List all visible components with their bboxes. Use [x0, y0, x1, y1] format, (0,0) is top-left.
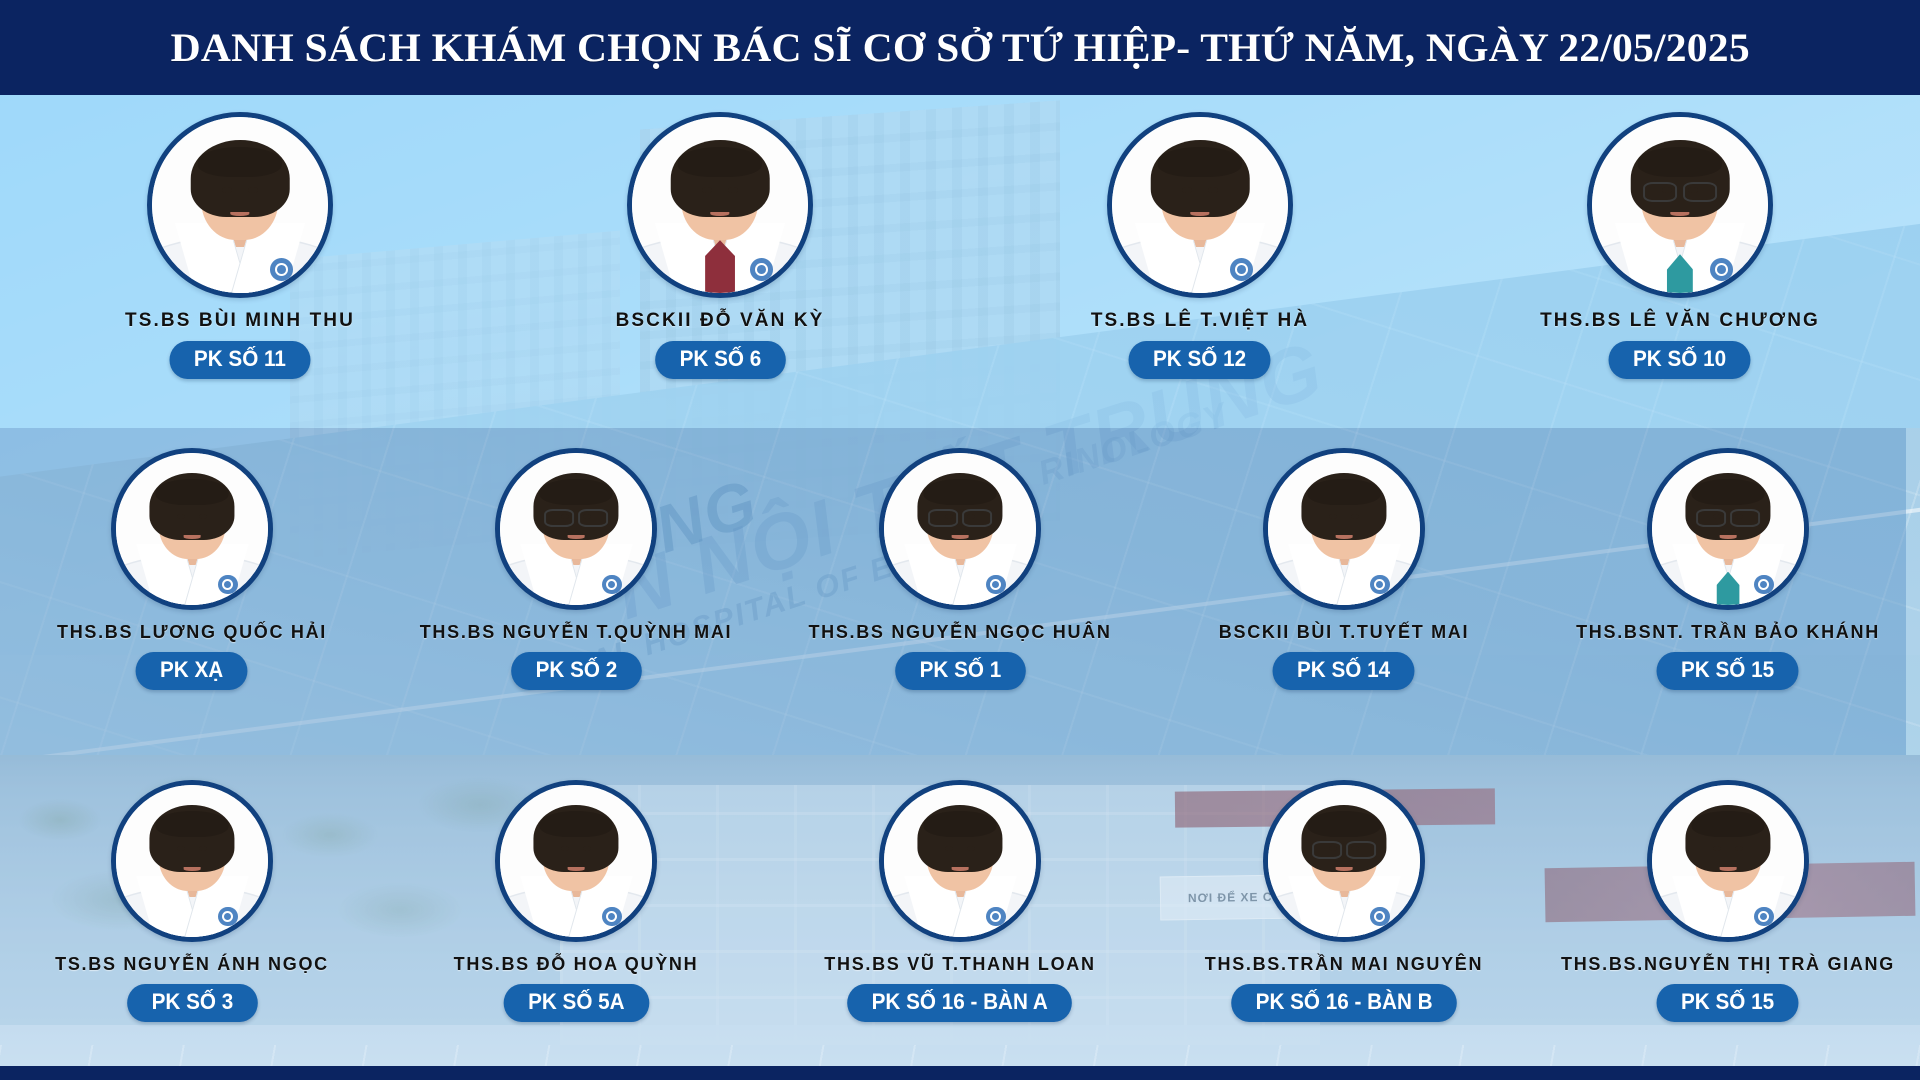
- portrait-eye-right: [728, 187, 738, 193]
- doctor-avatar: [1647, 448, 1809, 610]
- hospital-logo-icon: [602, 575, 622, 595]
- portrait-eye-right: [1735, 846, 1743, 851]
- portrait-eye-right: [1208, 187, 1218, 193]
- hospital-logo-icon: [602, 907, 622, 927]
- doctor-avatar: [879, 780, 1041, 942]
- portrait-mouth: [184, 535, 201, 539]
- doctor-name: THS.BS ĐỖ HOA QUỲNH: [454, 954, 699, 975]
- clinic-badge[interactable]: PK XẠ: [136, 652, 248, 690]
- doctor-name: THS.BS.TRẦN MAI NGUYÊN: [1205, 954, 1483, 975]
- portrait-eye-right: [967, 846, 975, 851]
- doctor-name: TS.BS BÙI MINH THU: [125, 310, 355, 332]
- doctor-card[interactable]: BSCKII BÙI T.TUYẾT MAIPK SỐ 14: [1159, 448, 1529, 690]
- doctor-name: BSCKII BÙI T.TUYẾT MAI: [1219, 622, 1469, 643]
- doctor-card[interactable]: THS.BS.TRẦN MAI NGUYÊNPK SỐ 16 - BÀN B: [1159, 780, 1529, 1022]
- portrait-fringe: [1692, 479, 1765, 505]
- portrait-glasses: [544, 509, 608, 523]
- doctor-name: THS.BSNT. TRẦN BẢO KHÁNH: [1576, 622, 1880, 643]
- doctor-card[interactable]: THS.BS ĐỖ HOA QUỲNHPK SỐ 5A: [391, 780, 761, 1022]
- clinic-badge[interactable]: PK SỐ 16 - BÀN B: [1231, 984, 1457, 1022]
- doctor-avatar: [495, 448, 657, 610]
- doctor-avatar: [879, 448, 1041, 610]
- doctor-card[interactable]: TS.BS LÊ T.VIỆT HÀPK SỐ 12: [1035, 112, 1365, 379]
- doctor-avatar: [495, 780, 657, 942]
- hospital-logo-icon: [1370, 907, 1390, 927]
- portrait-fringe: [1308, 811, 1381, 837]
- portrait-mouth: [568, 867, 585, 871]
- portrait-glasses: [1312, 841, 1376, 855]
- doctor-avatar: [1263, 780, 1425, 942]
- header-bar: DANH SÁCH KHÁM CHỌN BÁC SĨ CƠ SỞ TỨ HIỆP…: [0, 0, 1920, 95]
- doctor-avatar: [147, 112, 333, 298]
- doctor-card[interactable]: THS.BS LƯƠNG QUỐC HẢIPK XẠ: [7, 448, 377, 690]
- portrait-fringe: [198, 147, 282, 177]
- portrait-fringe: [1308, 479, 1381, 505]
- portrait-fringe: [1158, 147, 1242, 177]
- clinic-badge[interactable]: PK SỐ 14: [1273, 652, 1415, 690]
- portrait-mouth: [1720, 867, 1737, 871]
- portrait-mouth: [568, 535, 585, 539]
- clinic-badge[interactable]: PK SỐ 11: [170, 341, 311, 379]
- portrait-mouth: [952, 535, 969, 539]
- portrait-fringe: [1692, 811, 1765, 837]
- portrait-eye-left: [177, 514, 185, 519]
- portrait-fringe: [156, 479, 229, 505]
- portrait-fringe: [156, 811, 229, 837]
- hospital-logo-icon: [218, 907, 238, 927]
- doctor-row-2: THS.BS LƯƠNG QUỐC HẢIPK XẠTHS.BS NGUYỄN …: [0, 448, 1920, 690]
- portrait-eye-left: [177, 846, 185, 851]
- doctor-name: THS.BS LƯƠNG QUỐC HẢI: [57, 622, 327, 643]
- portrait-glasses: [928, 509, 992, 523]
- doctor-card[interactable]: THS.BS NGUYỄN NGỌC HUÂNPK SỐ 1: [775, 448, 1145, 690]
- portrait-mouth: [1336, 535, 1353, 539]
- portrait-fringe: [678, 147, 762, 177]
- clinic-badge[interactable]: PK SỐ 5A: [503, 984, 648, 1022]
- clinic-badge[interactable]: PK SỐ 15: [1657, 984, 1799, 1022]
- portrait-mouth: [184, 867, 201, 871]
- portrait-fringe: [540, 811, 613, 837]
- portrait-fringe: [924, 479, 997, 505]
- doctor-grid: TS.BS BÙI MINH THUPK SỐ 11BSCKII ĐỖ VĂN …: [0, 0, 1920, 1080]
- clinic-badge[interactable]: PK SỐ 6: [655, 341, 785, 379]
- doctor-name: THS.BS.NGUYỄN THỊ TRÀ GIANG: [1561, 954, 1895, 975]
- portrait-fringe: [924, 811, 997, 837]
- clinic-badge[interactable]: PK SỐ 10: [1609, 341, 1751, 379]
- portrait-glasses: [1696, 509, 1760, 523]
- portrait-eye-right: [199, 846, 207, 851]
- portrait-eye-left: [1329, 514, 1337, 519]
- portrait-eye-left: [1713, 846, 1721, 851]
- portrait-mouth: [952, 867, 969, 871]
- clinic-badge[interactable]: PK SỐ 15: [1657, 652, 1799, 690]
- hospital-logo-icon: [1754, 575, 1774, 595]
- doctor-avatar: [627, 112, 813, 298]
- doctor-card[interactable]: THS.BS NGUYỄN T.QUỲNH MAIPK SỐ 2: [391, 448, 761, 690]
- clinic-badge[interactable]: PK SỐ 16 - BÀN A: [847, 984, 1072, 1022]
- portrait-glasses: [1643, 182, 1717, 198]
- doctor-name: THS.BS NGUYỄN NGỌC HUÂN: [808, 622, 1111, 643]
- doctor-name: TS.BS LÊ T.VIỆT HÀ: [1091, 310, 1309, 332]
- hospital-logo-icon: [986, 575, 1006, 595]
- doctor-row-1: TS.BS BÙI MINH THUPK SỐ 11BSCKII ĐỖ VĂN …: [0, 112, 1920, 379]
- portrait-eye-right: [248, 187, 258, 193]
- portrait-eye-right: [199, 514, 207, 519]
- hospital-logo-icon: [1230, 258, 1253, 281]
- doctor-avatar: [111, 448, 273, 610]
- doctor-row-3: TS.BS NGUYỄN ÁNH NGỌCPK SỐ 3THS.BS ĐỖ HO…: [0, 780, 1920, 1022]
- doctor-card[interactable]: THS.BS VŨ T.THANH LOANPK SỐ 16 - BÀN A: [775, 780, 1145, 1022]
- doctor-avatar: [1647, 780, 1809, 942]
- doctor-card[interactable]: THS.BS LÊ VĂN CHƯƠNGPK SỐ 10: [1515, 112, 1845, 379]
- doctor-card[interactable]: BSCKII ĐỖ VĂN KỲPK SỐ 6: [555, 112, 885, 379]
- portrait-eye-right: [583, 846, 591, 851]
- doctor-avatar: [1107, 112, 1293, 298]
- doctor-name: THS.BS VŨ T.THANH LOAN: [824, 954, 1095, 975]
- poster-root: N NỘI TIẾT TRUNG ƯƠNG NAL HOSPITAL OF E …: [0, 0, 1920, 1080]
- page-title: DANH SÁCH KHÁM CHỌN BÁC SĨ CƠ SỞ TỨ HIỆP…: [170, 24, 1749, 71]
- doctor-card[interactable]: THS.BS.NGUYỄN THỊ TRÀ GIANGPK SỐ 15: [1543, 780, 1913, 1022]
- doctor-name: BSCKII ĐỖ VĂN KỲ: [616, 310, 825, 332]
- portrait-eye-left: [945, 846, 953, 851]
- doctor-avatar: [1263, 448, 1425, 610]
- hospital-logo-icon: [1370, 575, 1390, 595]
- portrait-fringe: [540, 479, 613, 505]
- clinic-badge[interactable]: PK SỐ 12: [1129, 341, 1271, 379]
- portrait-fringe: [1638, 147, 1722, 177]
- hospital-logo-icon: [218, 575, 238, 595]
- hospital-logo-icon: [1710, 258, 1733, 281]
- clinic-badge[interactable]: PK SỐ 2: [511, 652, 641, 690]
- doctor-card[interactable]: THS.BSNT. TRẦN BẢO KHÁNHPK SỐ 15: [1543, 448, 1913, 690]
- hospital-logo-icon: [1754, 907, 1774, 927]
- doctor-name: THS.BS NGUYỄN T.QUỲNH MAI: [420, 622, 733, 643]
- portrait-mouth: [1720, 535, 1737, 539]
- portrait-mouth: [1336, 867, 1353, 871]
- clinic-badge[interactable]: PK SỐ 3: [127, 984, 257, 1022]
- doctor-avatar: [111, 780, 273, 942]
- hospital-logo-icon: [270, 258, 293, 281]
- hospital-logo-icon: [750, 258, 773, 281]
- doctor-card[interactable]: TS.BS BÙI MINH THUPK SỐ 11: [75, 112, 405, 379]
- doctor-avatar: [1587, 112, 1773, 298]
- doctor-name: THS.BS LÊ VĂN CHƯƠNG: [1540, 310, 1820, 332]
- footer-bar: [0, 1066, 1920, 1080]
- portrait-eye-left: [561, 846, 569, 851]
- clinic-badge[interactable]: PK SỐ 1: [895, 652, 1025, 690]
- portrait-eye-right: [1351, 514, 1359, 519]
- hospital-logo-icon: [986, 907, 1006, 927]
- doctor-card[interactable]: TS.BS NGUYỄN ÁNH NGỌCPK SỐ 3: [7, 780, 377, 1022]
- doctor-name: TS.BS NGUYỄN ÁNH NGỌC: [55, 954, 329, 975]
